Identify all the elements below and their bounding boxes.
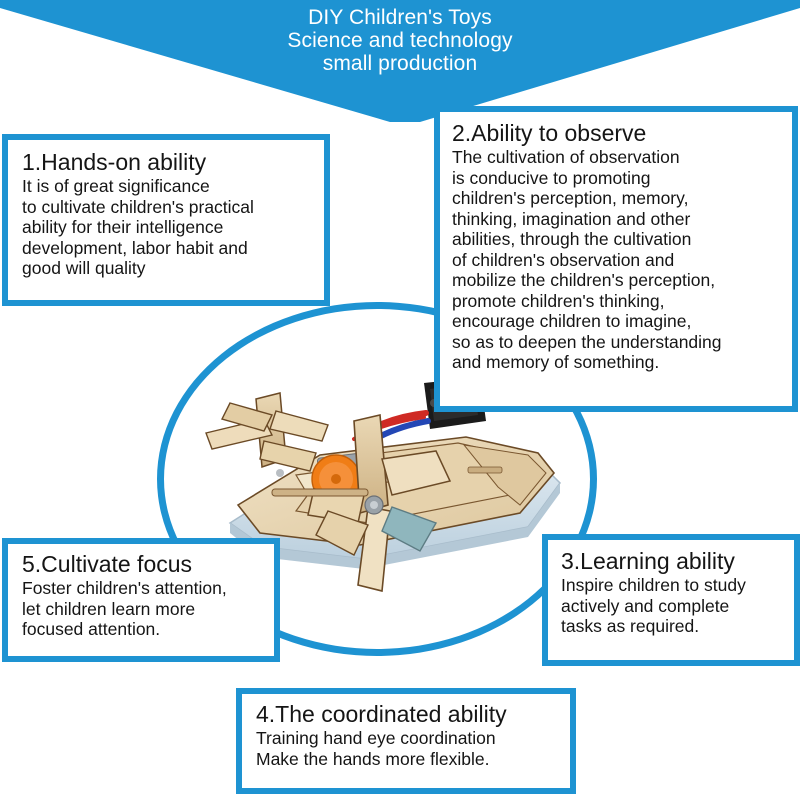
- body-line: Inspire children to study: [561, 575, 788, 596]
- body-line: let children learn more: [22, 599, 268, 620]
- body-line: encourage children to imagine,: [452, 311, 786, 332]
- body-line: ability for their intelligence: [22, 217, 316, 238]
- body-line: development, labor habit and: [22, 238, 316, 259]
- info-box-body: Training hand eye coordination Make the …: [256, 728, 564, 770]
- info-box-ability-to-observe[interactable]: 2.Ability to observe The cultivation of …: [434, 106, 798, 412]
- body-line: is conducive to promoting: [452, 168, 786, 189]
- body-line: Training hand eye coordination: [256, 728, 564, 749]
- body-line: good will quality: [22, 258, 316, 279]
- info-box-title: 4.The coordinated ability: [256, 701, 564, 727]
- info-box-cultivate-focus[interactable]: 5.Cultivate focus Foster children's atte…: [2, 538, 280, 662]
- info-box-learning-ability[interactable]: 3.Learning ability Inspire children to s…: [542, 534, 800, 666]
- infographic-stage: DIY Children's Toys Science and technolo…: [0, 0, 800, 800]
- info-box-title: 2.Ability to observe: [452, 120, 786, 146]
- body-line: abilities, through the cultivation: [452, 229, 786, 250]
- body-line: focused attention.: [22, 619, 268, 640]
- body-line: to cultivate children's practical: [22, 197, 316, 218]
- body-line: tasks as required.: [561, 616, 788, 637]
- info-box-coordinated-ability[interactable]: 4.The coordinated ability Training hand …: [236, 688, 576, 794]
- body-line: Make the hands more flexible.: [256, 749, 564, 770]
- body-line: The cultivation of observation: [452, 147, 786, 168]
- body-line: so as to deepen the understanding: [452, 332, 786, 353]
- info-box-title: 1.Hands-on ability: [22, 149, 316, 175]
- body-line: of children's observation and: [452, 250, 786, 271]
- info-box-body: The cultivation of observation is conduc…: [452, 147, 786, 373]
- rear-fin-left: [206, 393, 328, 471]
- body-line: It is of great significance: [22, 176, 316, 197]
- body-line: children's perception, memory,: [452, 188, 786, 209]
- body-line: thinking, imagination and other: [452, 209, 786, 230]
- header-banner-chevron: [0, 0, 800, 122]
- body-line: and memory of something.: [452, 352, 786, 373]
- info-box-body: Inspire children to study actively and c…: [561, 575, 788, 637]
- body-line: actively and complete: [561, 596, 788, 617]
- info-box-body: Foster children's attention, let childre…: [22, 578, 268, 640]
- body-line: promote children's thinking,: [452, 291, 786, 312]
- info-box-title: 3.Learning ability: [561, 548, 788, 574]
- info-box-title: 5.Cultivate focus: [22, 551, 268, 577]
- info-box-hands-on-ability[interactable]: 1.Hands-on ability It is of great signif…: [2, 134, 330, 306]
- body-line: Foster children's attention,: [22, 578, 268, 599]
- body-line: mobilize the children's perception,: [452, 270, 786, 291]
- info-box-body: It is of great significance to cultivate…: [22, 176, 316, 279]
